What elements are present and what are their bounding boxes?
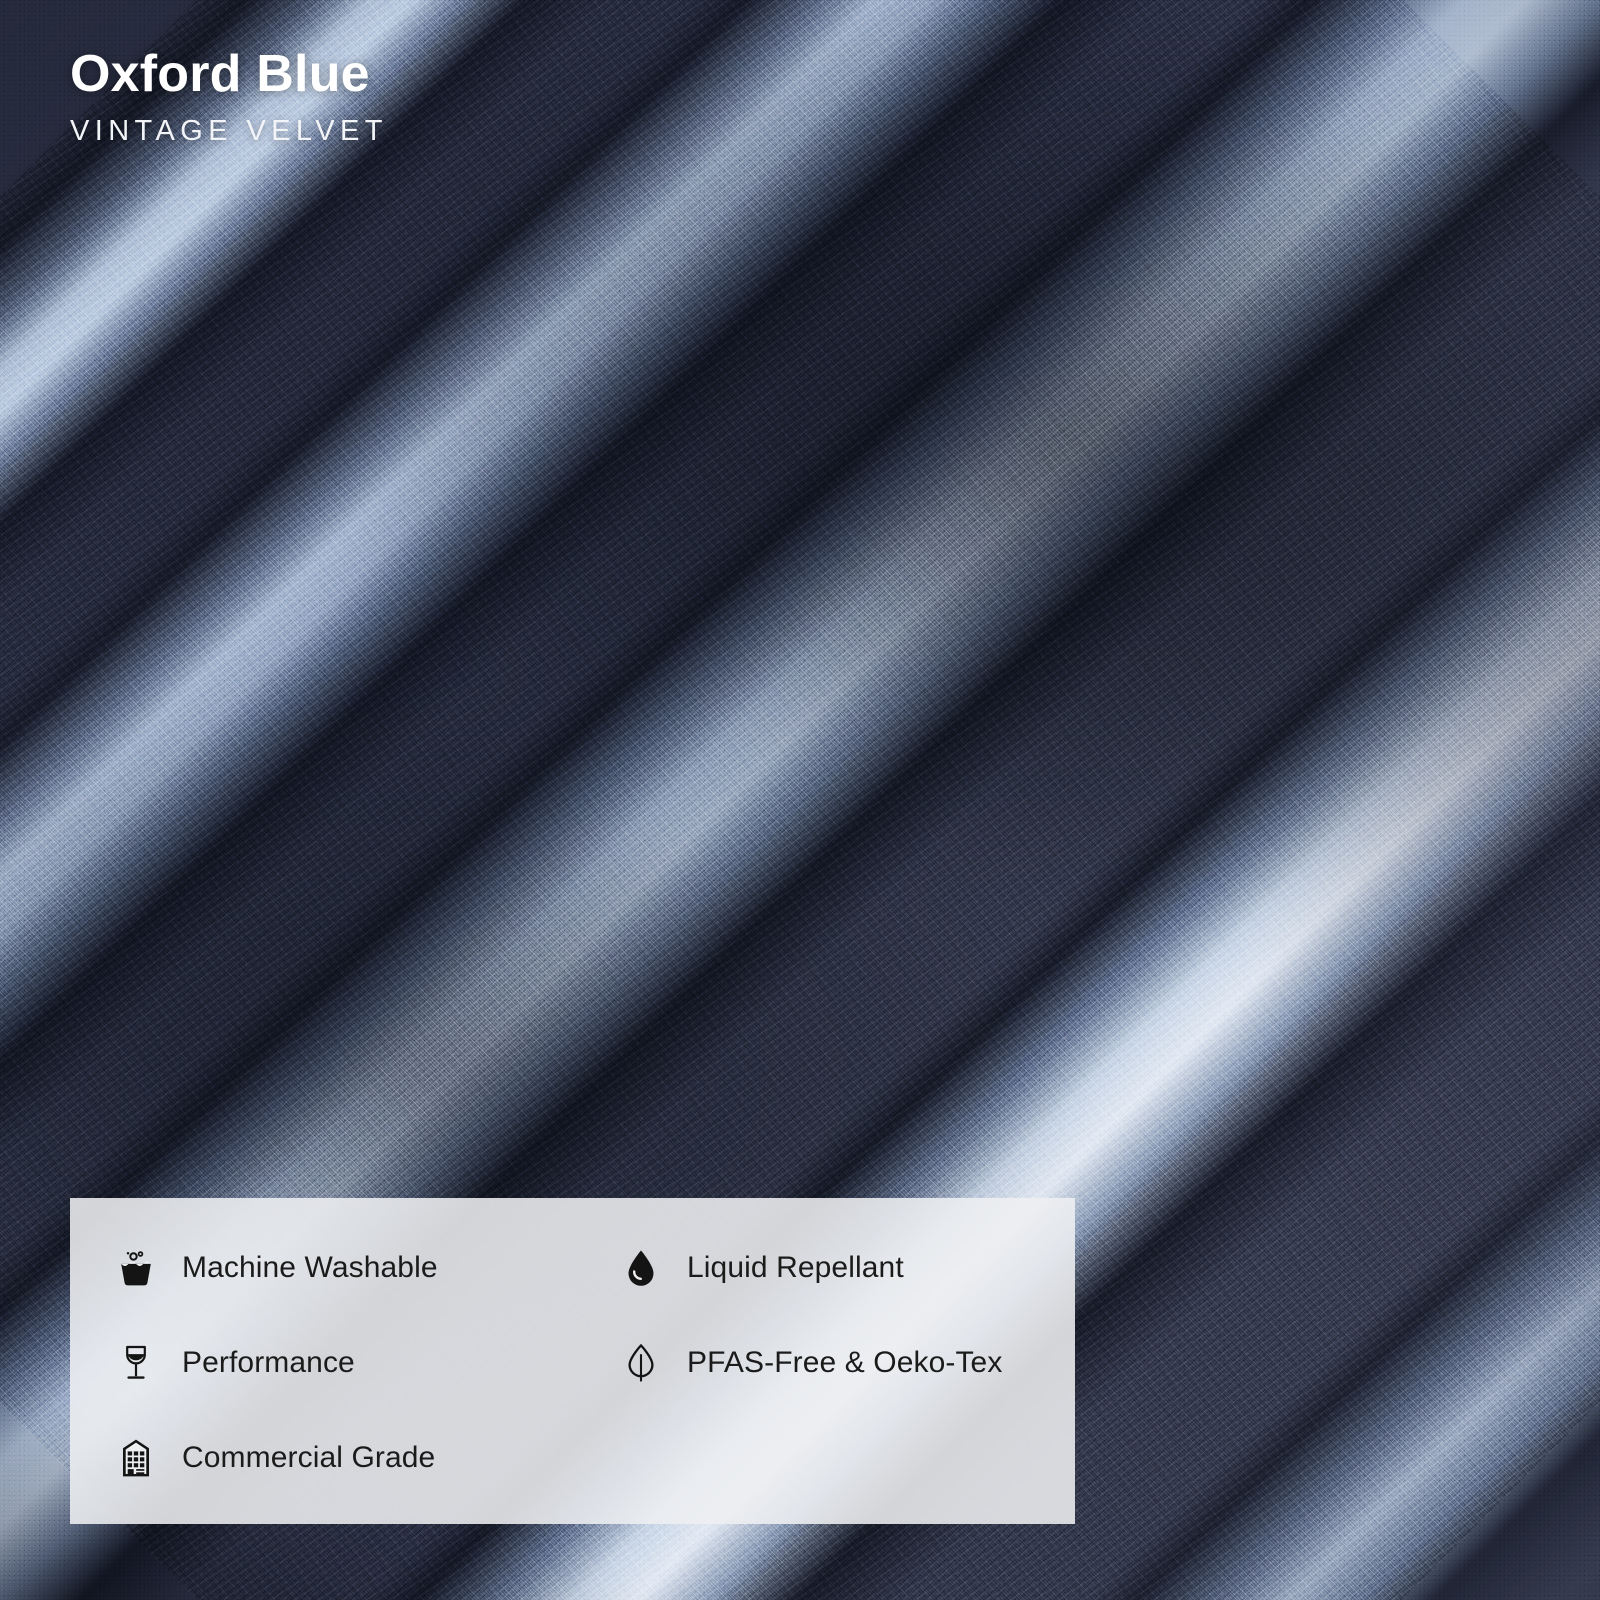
washing-tub-icon [116, 1247, 156, 1289]
feature-commercial-grade: Commercial Grade [70, 1437, 575, 1479]
feature-performance: Performance [70, 1342, 575, 1384]
feature-label: PFAS-Free & Oeko-Tex [687, 1346, 1002, 1380]
product-subtitle: VINTAGE VELVET [70, 116, 388, 146]
wine-glass-icon [116, 1342, 156, 1384]
feature-panel: Machine Washable Liquid Repellant [70, 1198, 1075, 1524]
feature-label: Performance [182, 1346, 355, 1380]
leaf-icon [621, 1342, 661, 1384]
feature-label: Commercial Grade [182, 1441, 435, 1475]
feature-pfas-free-oeko-tex: PFAS-Free & Oeko-Tex [575, 1342, 1075, 1384]
building-icon [116, 1437, 156, 1479]
feature-label: Liquid Repellant [687, 1251, 904, 1285]
product-swatch-image: Oxford Blue VINTAGE VELVET Machine Washa… [0, 0, 1600, 1600]
feature-label: Machine Washable [182, 1251, 438, 1285]
product-heading: Oxford Blue VINTAGE VELVET [70, 46, 388, 147]
water-droplet-icon [621, 1247, 661, 1289]
product-title: Oxford Blue [70, 46, 388, 102]
feature-machine-washable: Machine Washable [70, 1247, 575, 1289]
feature-liquid-repellant: Liquid Repellant [575, 1247, 1075, 1289]
